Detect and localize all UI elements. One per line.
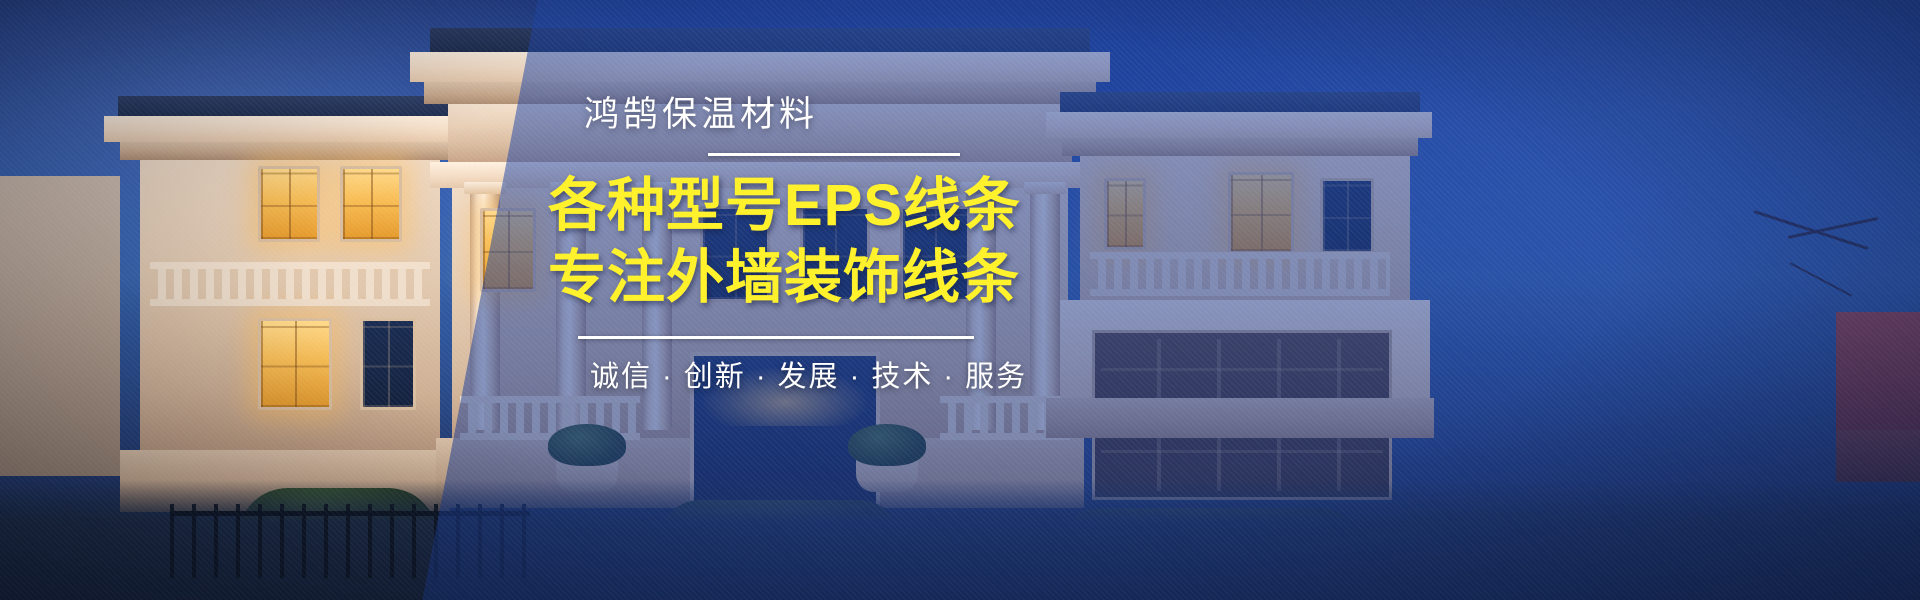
divider-bottom xyxy=(578,336,974,339)
banner-headline-line1: 各种型号EPS线条 xyxy=(548,172,1018,240)
window-dark-left-lower xyxy=(360,318,416,410)
left-wing-cornice-upper xyxy=(104,116,460,142)
window-lit-left-upper-1 xyxy=(258,166,320,242)
left-wing-cornice-lower xyxy=(120,142,450,160)
window-lit-left-upper-2 xyxy=(340,166,402,242)
banner-headline-line2: 专注外墙装饰线条 xyxy=(548,244,1018,312)
column-capital-1 xyxy=(464,182,506,194)
window-lit-left-lower-1 xyxy=(258,318,332,410)
banner-tagline: 诚信 · 创新 · 发展 · 技术 · 服务 xyxy=(590,353,1018,395)
banner-subtitle: 鸿鹄保温材料 xyxy=(584,96,1018,135)
balustrade-left xyxy=(150,262,430,306)
left-wing-roof xyxy=(118,96,448,118)
far-building-left xyxy=(0,176,120,476)
hero-banner: 鸿鹄保温材料 各种型号EPS线条 专注外墙装饰线条 诚信 · 创新 · 发展 ·… xyxy=(0,0,1920,600)
banner-text-block: 鸿鹄保温材料 各种型号EPS线条 专注外墙装饰线条 诚信 · 创新 · 发展 ·… xyxy=(548,96,1018,395)
divider-top xyxy=(708,153,960,156)
